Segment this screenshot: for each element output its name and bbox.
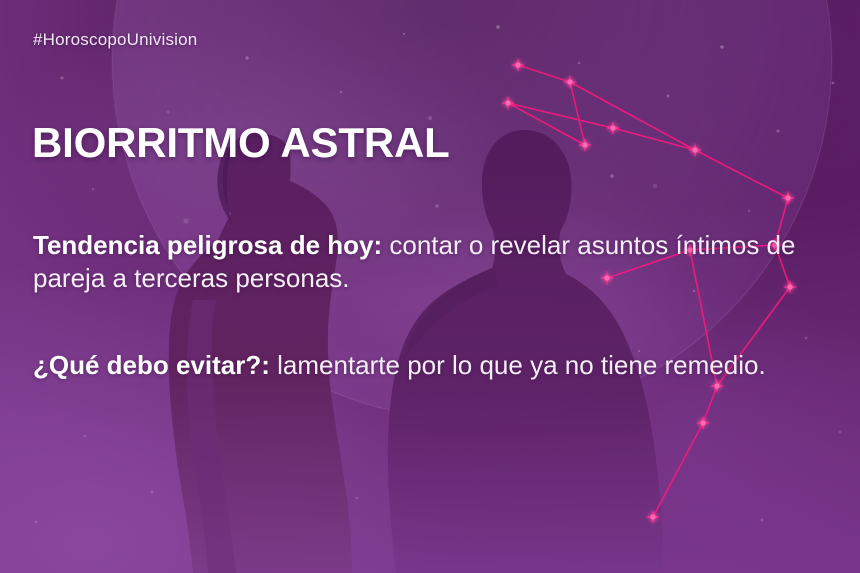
page-title: BIORRITMO ASTRAL [32,122,450,164]
paragraph-evitar: ¿Qué debo evitar?: lamentarte por lo que… [33,349,833,382]
text-content: #HoroscopoUnivision BIORRITMO ASTRAL Ten… [0,0,860,573]
paragraph-1-lead: Tendencia peligrosa de hoy: [33,230,382,260]
horoscope-card: #HoroscopoUnivision BIORRITMO ASTRAL Ten… [0,0,860,573]
paragraph-2-lead: ¿Qué debo evitar?: [33,350,270,380]
hashtag-label: #HoroscopoUnivision [33,30,197,50]
paragraph-tendencia: Tendencia peligrosa de hoy: contar o rev… [33,229,833,295]
paragraph-2-text: lamentarte por lo que ya no tiene remedi… [270,350,766,380]
